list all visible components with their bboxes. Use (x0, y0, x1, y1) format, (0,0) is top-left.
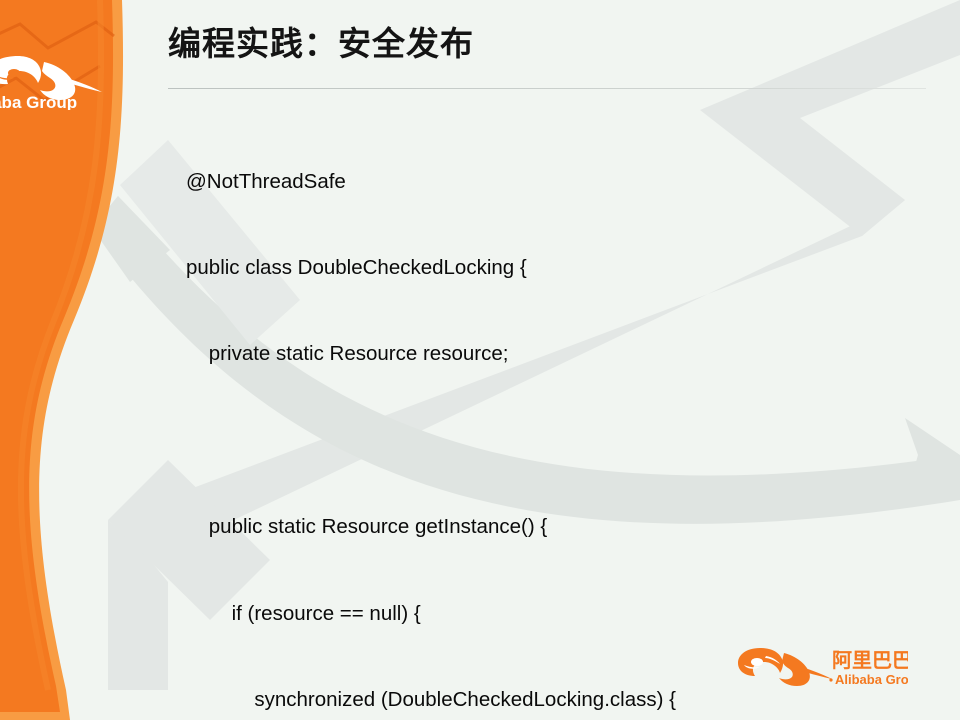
registered-dot-icon (829, 678, 832, 681)
bottom-right-logo-wordmark-en: Alibaba Group (835, 672, 908, 687)
title-divider (168, 88, 926, 89)
code-line: @NotThreadSafe (186, 168, 906, 197)
bottom-right-logo-wordmark-cn: 阿里巴巴 (832, 648, 908, 672)
page-title: 编程实践：安全发布 (168, 22, 474, 67)
code-line: private static Resource resource; (186, 340, 906, 369)
top-left-logo-wordmark: Alibaba Group (0, 93, 77, 110)
code-line: public class DoubleCheckedLocking { (186, 254, 906, 283)
top-left-alibaba-logo: Alibaba Group (0, 48, 136, 110)
bottom-right-alibaba-logo: 阿里巴巴 Alibaba Group (736, 644, 908, 692)
slide-canvas: Alibaba Group 编程实践：安全发布 @NotThreadSafe p… (0, 0, 960, 720)
code-line: if (resource == null) { (186, 600, 906, 629)
code-line: public static Resource getInstance() { (186, 513, 906, 542)
code-line (186, 427, 906, 456)
code-block: @NotThreadSafe public class DoubleChecke… (186, 110, 906, 720)
